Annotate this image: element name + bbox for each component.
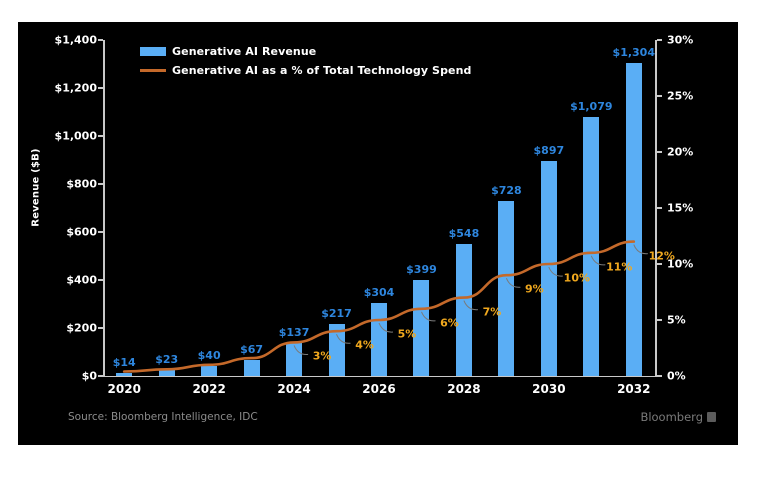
y-tick-label-left: $200: [18, 322, 97, 335]
y-tick-label-left: $400: [18, 274, 97, 287]
bar[interactable]: [116, 373, 132, 376]
y-tick-label-left: $0: [18, 370, 97, 383]
bar[interactable]: [159, 370, 175, 376]
line-value-label: 3%: [313, 350, 332, 363]
line-value-label: 5%: [398, 328, 417, 341]
bar[interactable]: [583, 117, 599, 376]
bar-value-label: $399: [406, 263, 437, 276]
line-value-label: 11%: [606, 260, 632, 273]
bar-value-label: $137: [279, 326, 310, 339]
line-value-label: 7%: [483, 305, 502, 318]
bar[interactable]: [201, 366, 217, 376]
line-value-label: 6%: [440, 316, 459, 329]
bar[interactable]: [456, 244, 472, 376]
y-tick-mark-right: [657, 375, 662, 377]
x-tick-label: 2028: [447, 382, 480, 396]
legend-item-bar[interactable]: Generative AI Revenue: [140, 42, 472, 61]
y-tick-mark-left: [98, 327, 103, 329]
y-tick-mark-right: [657, 95, 662, 97]
y-tick-label-left: $1,000: [18, 130, 97, 143]
y-tick-mark-left: [98, 231, 103, 233]
bar[interactable]: [498, 201, 514, 376]
bar[interactable]: [244, 360, 260, 376]
y-tick-label-right: 30%: [667, 34, 713, 47]
x-tick-label: 2022: [192, 382, 225, 396]
legend-line-swatch-icon: [140, 69, 166, 72]
y-tick-mark-left: [98, 39, 103, 41]
bar-value-label: $548: [449, 227, 480, 240]
legend-label-bar: Generative AI Revenue: [172, 45, 316, 58]
line-value-label: 9%: [525, 283, 544, 296]
bar[interactable]: [626, 63, 642, 376]
bar-value-label: $897: [534, 144, 565, 157]
axis-line-bottom: [103, 376, 659, 377]
bar-value-label: $14: [113, 356, 136, 369]
y-tick-label-left: $1,200: [18, 82, 97, 95]
bar-value-label: $1,304: [613, 46, 655, 59]
legend-label-line: Generative AI as a % of Total Technology…: [172, 64, 472, 77]
y-tick-label-left: $800: [18, 178, 97, 191]
source-note: Source: Bloomberg Intelligence, IDC: [68, 411, 258, 423]
chart-panel: Revenue ($B) % of Total Technology Spend…: [18, 22, 738, 445]
bar[interactable]: [286, 343, 302, 376]
y-tick-label-left: $1,400: [18, 34, 97, 47]
y-tick-label-left: $600: [18, 226, 97, 239]
y-tick-mark-right: [657, 39, 662, 41]
y-tick-mark-right: [657, 319, 662, 321]
y-tick-label-right: 5%: [667, 314, 713, 327]
axis-line-left: [103, 40, 105, 377]
y-tick-mark-left: [98, 375, 103, 377]
y-tick-label-right: 0%: [667, 370, 713, 383]
x-tick-label: 2024: [277, 382, 310, 396]
y-tick-label-right: 15%: [667, 202, 713, 215]
bar-value-label: $23: [155, 353, 178, 366]
bar-value-label: $217: [321, 307, 352, 320]
y-tick-mark-right: [657, 263, 662, 265]
bar-value-label: $40: [198, 349, 221, 362]
bar-value-label: $1,079: [570, 100, 612, 113]
chart-legend: Generative AI Revenue Generative AI as a…: [140, 42, 472, 80]
line-value-label: 4%: [355, 339, 374, 352]
y-tick-mark-left: [98, 135, 103, 137]
bloomberg-wordmark: Bloomberg: [640, 410, 703, 424]
x-tick-label: 2032: [617, 382, 650, 396]
bar-value-label: $728: [491, 184, 522, 197]
y-tick-label-right: 20%: [667, 146, 713, 159]
y-tick-label-right: 25%: [667, 90, 713, 103]
bloomberg-watermark: Bloomberg: [640, 410, 716, 424]
x-tick-label: 2020: [108, 382, 141, 396]
screenshot-root: Revenue ($B) % of Total Technology Spend…: [0, 0, 768, 484]
legend-bar-swatch-icon: [140, 47, 166, 56]
bloomberg-logo-icon: [707, 412, 716, 422]
legend-item-line[interactable]: Generative AI as a % of Total Technology…: [140, 61, 472, 80]
bar-value-label: $304: [364, 286, 395, 299]
y-tick-mark-right: [657, 151, 662, 153]
bar[interactable]: [541, 161, 557, 376]
y-tick-mark-left: [98, 183, 103, 185]
x-tick-label: 2030: [532, 382, 565, 396]
y-tick-mark-right: [657, 207, 662, 209]
y-tick-mark-left: [98, 279, 103, 281]
x-tick-label: 2026: [362, 382, 395, 396]
line-value-label: 12%: [649, 249, 675, 262]
line-value-label: 10%: [564, 272, 590, 285]
bar-value-label: $67: [240, 343, 263, 356]
y-tick-mark-left: [98, 87, 103, 89]
